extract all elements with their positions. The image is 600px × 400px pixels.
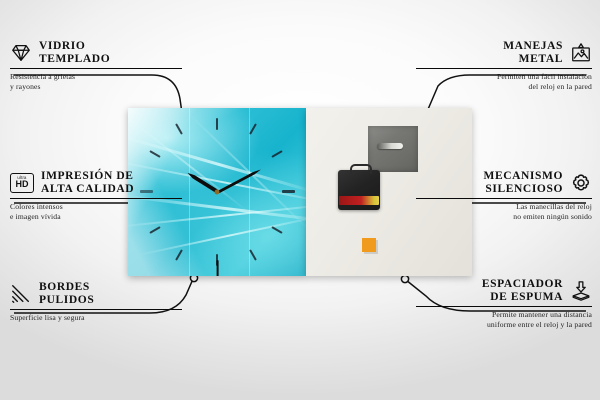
picture-frame-hanger-icon bbox=[570, 42, 592, 64]
feature-divider bbox=[416, 198, 592, 199]
feature-desc-line1: Permiten una fácil instalación bbox=[416, 72, 592, 81]
metal-hanger-plate bbox=[368, 126, 418, 172]
feature-desc-line1: Colores intensos bbox=[10, 202, 182, 211]
clock-tick bbox=[249, 249, 257, 260]
battery bbox=[339, 196, 379, 205]
feature-title-line1: BORDES bbox=[39, 281, 94, 294]
ultra-hd-icon: ultra HD bbox=[10, 173, 34, 193]
feature-desc-line1: Resistencia a grietas bbox=[10, 72, 182, 81]
feature-desc-line1: Las manecillas del reloj bbox=[416, 202, 592, 211]
feature-title-line2: METAL bbox=[503, 53, 563, 66]
feature-desc-line1: Permite mantener una distancia bbox=[416, 310, 592, 319]
clock-second-hand bbox=[217, 260, 219, 276]
feature-title-line1: VIDRIO bbox=[39, 40, 110, 53]
feature-divider bbox=[416, 68, 592, 69]
foam-spacer bbox=[362, 238, 376, 252]
clock-tick bbox=[149, 150, 160, 158]
gear-icon bbox=[570, 172, 592, 194]
feature-desc-line2: e imagen vívida bbox=[10, 212, 182, 221]
feature-divider bbox=[10, 309, 182, 310]
feature-desc-line1: Superficie lisa y segura bbox=[10, 313, 182, 322]
connector-dot-espaciador bbox=[401, 275, 408, 282]
feature-title-line2: ALTA CALIDAD bbox=[41, 183, 134, 196]
feature-title-line1: ESPACIADOR bbox=[482, 278, 563, 291]
diamond-icon bbox=[10, 42, 32, 64]
foam-spacer-icon bbox=[570, 280, 592, 302]
feature-mecanismo-silencioso: MECANISMO SILENCIOSO Las manecillas del … bbox=[416, 170, 592, 221]
clock-tick bbox=[175, 249, 183, 260]
feature-divider bbox=[10, 68, 182, 69]
feature-desc-line2: uniforme entre el reloj y la pared bbox=[416, 320, 592, 329]
clock-tick bbox=[216, 118, 218, 130]
clock-tick bbox=[249, 123, 257, 134]
feature-divider bbox=[10, 198, 182, 199]
feature-desc-line2: y rayones bbox=[10, 82, 182, 91]
feature-bordes-pulidos: BORDES PULIDOS Superficie lisa y segura bbox=[10, 281, 182, 323]
feature-vidrio-templado: VIDRIO TEMPLADO Resistencia a grietas y … bbox=[10, 40, 182, 91]
feature-title-line1: IMPRESIÓN DE bbox=[41, 170, 134, 183]
polished-edges-icon bbox=[10, 283, 32, 305]
feature-espaciador-espuma: ESPACIADOR DE ESPUMA Permite mantener un… bbox=[416, 278, 592, 329]
feature-impresion-alta-calidad: ultra HD IMPRESIÓN DE ALTA CALIDAD Color… bbox=[10, 170, 182, 221]
feature-title-line2: PULIDOS bbox=[39, 294, 94, 307]
feature-title-line1: MECANISMO bbox=[483, 170, 563, 183]
feature-title-line2: SILENCIOSO bbox=[483, 183, 563, 196]
feature-title-line2: DE ESPUMA bbox=[482, 291, 563, 304]
feature-title-line2: TEMPLADO bbox=[39, 53, 110, 66]
clock-tick bbox=[271, 226, 282, 234]
clock-center-pin bbox=[215, 190, 220, 195]
clock-tick bbox=[175, 123, 183, 134]
feature-manejas-metal: MANEJAS METAL Permiten una fácil instala… bbox=[416, 40, 592, 91]
feature-title-line1: MANEJAS bbox=[503, 40, 563, 53]
infographic-stage: VIDRIO TEMPLADO Resistencia a grietas y … bbox=[0, 0, 600, 400]
feature-desc-line2: no emiten ningún sonido bbox=[416, 212, 592, 221]
feature-desc-line2: del reloj en la pared bbox=[416, 82, 592, 91]
feature-divider bbox=[416, 306, 592, 307]
clock-tick bbox=[271, 150, 282, 158]
clock-tick bbox=[149, 226, 160, 234]
clock-tick bbox=[282, 190, 295, 193]
ultra-hd-icon-large-text: HD bbox=[16, 180, 29, 189]
